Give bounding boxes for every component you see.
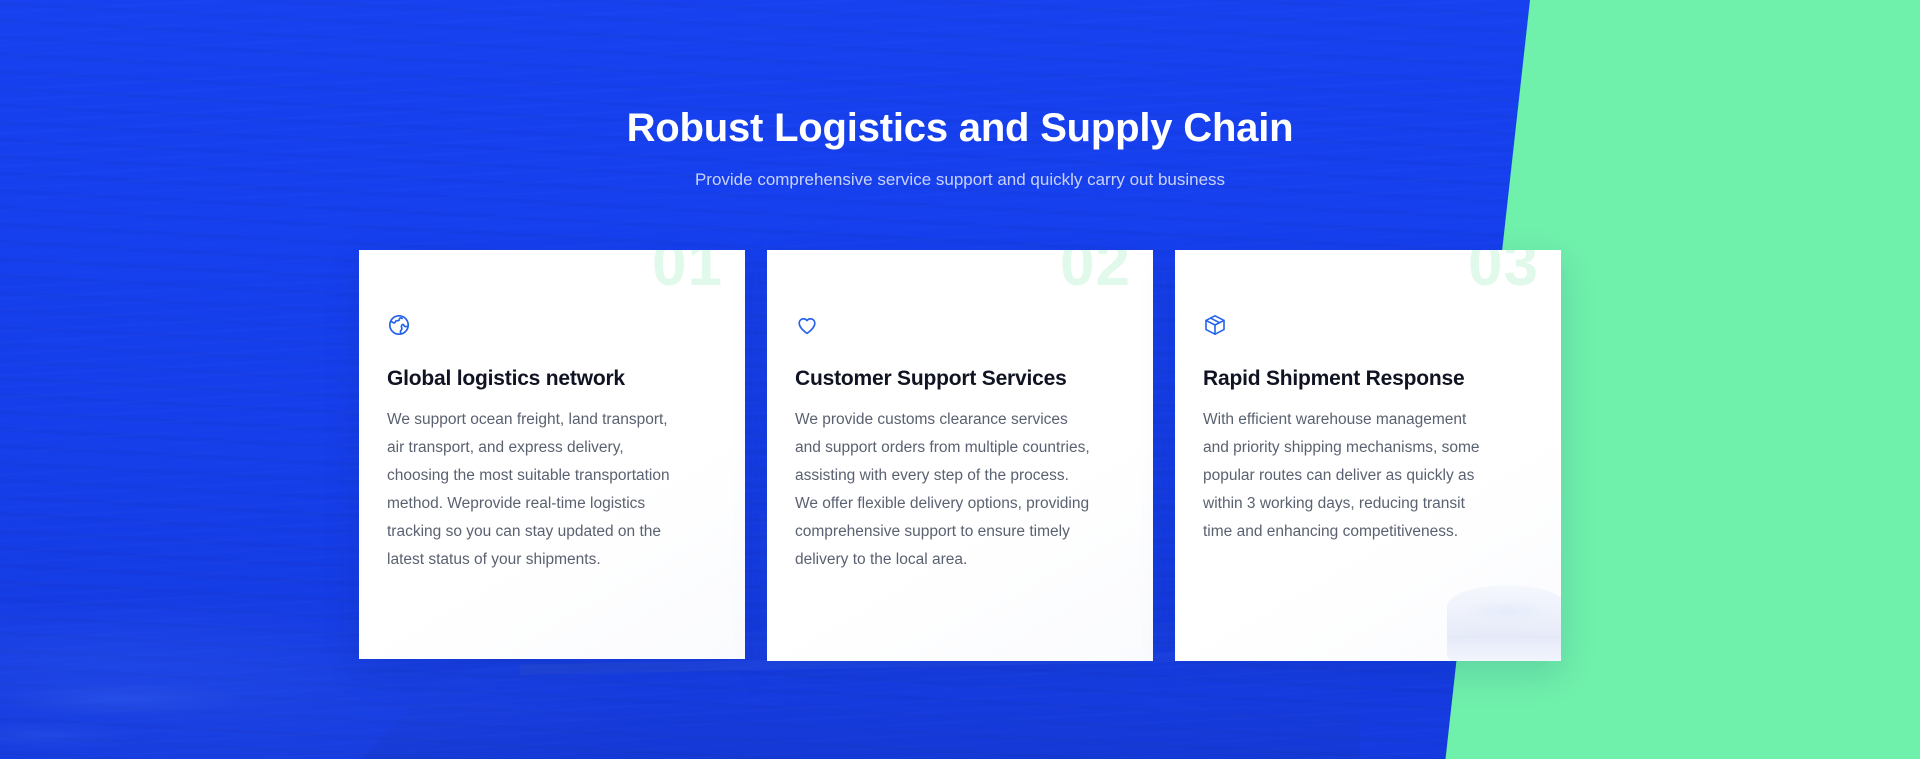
page-subtitle: Provide comprehensive service support an… [0,168,1920,192]
card-body-text: We support ocean freight, land transport… [387,406,717,574]
feature-card-list: 01 Global logistics network We support o… [359,250,1561,661]
page-title: Robust Logistics and Supply Chain [0,104,1920,152]
feature-card-global-logistics-network[interactable]: 01 Global logistics network We support o… [359,250,745,659]
globe-icon [387,313,411,337]
card-body-text: With efficient warehouse management and … [1203,406,1533,546]
package-box-icon [1203,313,1227,337]
card-decorative-disc [1447,585,1561,661]
hero-heading-block: Robust Logistics and Supply Chain Provid… [0,104,1920,192]
card-index-number: 02 [1060,250,1131,296]
hero-section: Robust Logistics and Supply Chain Provid… [0,0,1920,759]
card-title: Customer Support Services [795,366,1125,392]
card-body-text: We provide customs clearance services an… [795,406,1125,574]
card-title: Global logistics network [387,366,717,392]
card-index-number: 01 [652,250,723,296]
feature-card-customer-support-services[interactable]: 02 Customer Support Services We provide … [767,250,1153,661]
card-title: Rapid Shipment Response [1203,366,1533,392]
card-index-number: 03 [1468,250,1539,296]
feature-card-rapid-shipment-response[interactable]: 03 Rapid Shipment Response With efficien… [1175,250,1561,661]
heart-icon [795,313,819,337]
